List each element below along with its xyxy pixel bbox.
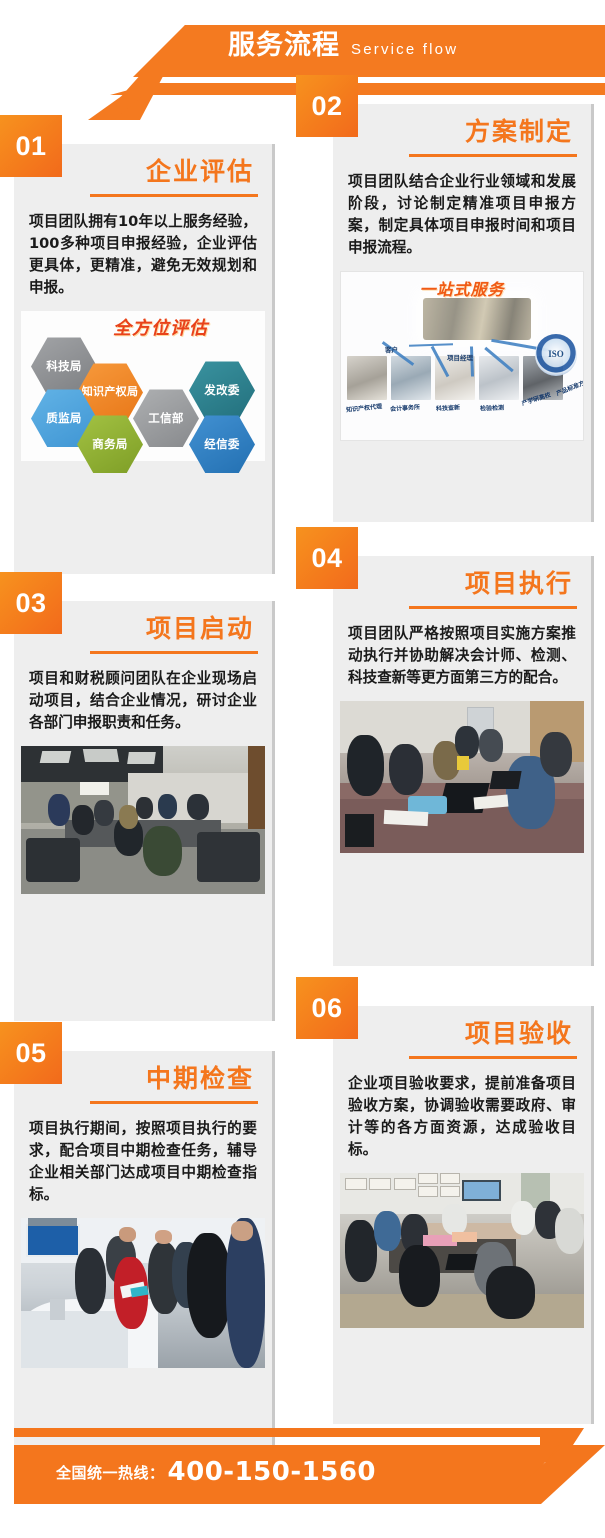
page-title-cn: 服务流程 bbox=[228, 32, 340, 59]
caption-testing: 检验检测 bbox=[480, 403, 504, 413]
card-body-06: 企业项目验收要求，提前准备项目验收方案，协调验收需要政府、审计等的各方面资源，达… bbox=[333, 1059, 591, 1174]
page-title-en: Service flow bbox=[351, 41, 458, 58]
card-body-04: 项目团队严格按照项目实施方案推动执行并协助解决会计师、检测、科技查新等更方面第三… bbox=[333, 609, 591, 702]
process-card-06[interactable]: 06 项目验收 企业项目验收要求，提前准备项目验收方案，协调验收需要政府、审计等… bbox=[333, 1006, 591, 1424]
card-number-badge-05: 05 bbox=[0, 1022, 62, 1084]
card-header-06: 项目验收 bbox=[333, 1006, 591, 1059]
card-number-badge-04: 04 bbox=[296, 527, 358, 589]
card-title-03: 项目启动 bbox=[28, 615, 258, 644]
card-row-3: 05 中期检查 项目执行期间，按照项目执行的要求，配合项目中期检查任务，辅导企业… bbox=[0, 1006, 605, 1466]
card-media-04 bbox=[333, 701, 591, 861]
card-row-2: 03 项目启动 项目和财税顾问团队在企业现场启动项目，结合企业情况，研讨企业各部… bbox=[0, 556, 605, 1006]
thumb-ip bbox=[347, 356, 387, 400]
footer-stripe bbox=[14, 1428, 579, 1437]
card-title-04: 项目执行 bbox=[347, 570, 577, 599]
card-media-06 bbox=[333, 1173, 591, 1336]
photo-project-acceptance bbox=[340, 1173, 584, 1328]
iso-seal-icon bbox=[535, 334, 577, 376]
card-row-1: 01 企业评估 项目团队拥有10年以上服务经验，100多种项目申报经验，企业评估… bbox=[0, 104, 605, 556]
node-project-manager: 项目经理 bbox=[447, 352, 473, 362]
card-title-06: 项目验收 bbox=[347, 1020, 577, 1049]
page-title: 服务流程 Service flow bbox=[228, 32, 458, 59]
hotline-number[interactable]: 400-150-1560 bbox=[168, 1459, 377, 1485]
card-header-02: 方案制定 bbox=[333, 104, 591, 157]
footer-banner: 全国统一热线： 400-150-1560 bbox=[0, 1418, 605, 1528]
card-media-05 bbox=[14, 1218, 272, 1376]
hexagon-jingxin: 经信委 bbox=[189, 415, 255, 473]
card-body-05: 项目执行期间，按照项目执行的要求，配合项目中期检查任务，辅导企业相关部门达成项目… bbox=[14, 1104, 272, 1219]
card-header-04: 项目执行 bbox=[333, 556, 591, 609]
card-body-03: 项目和财税顾问团队在企业现场启动项目，结合企业情况，研讨企业各部门申报职责和任务… bbox=[14, 654, 272, 747]
caption-search: 科技查新 bbox=[436, 403, 460, 413]
photo-project-kickoff bbox=[21, 746, 265, 894]
hotline-label: 全国统一热线： bbox=[56, 1462, 165, 1483]
card-title-01: 企业评估 bbox=[28, 158, 258, 187]
process-card-02[interactable]: 02 方案制定 项目团队结合企业行业领域和发展阶段，讨论制定精准项目申报方案，制… bbox=[333, 104, 591, 522]
card-title-02: 方案制定 bbox=[347, 118, 577, 147]
hexagon-diagram: 全方位评估 科技局 知识产权局 发改委 质监局 工信部 商务局 经信委 bbox=[21, 311, 265, 461]
infographic-page: 服务流程 Service flow 01 企业评估 项目团队拥有10年以上服务经… bbox=[0, 0, 605, 1538]
process-card-05[interactable]: 05 中期检查 项目执行期间，按照项目执行的要求，配合项目中期检查任务，辅导企业… bbox=[14, 1051, 272, 1476]
process-card-grid: 01 企业评估 项目团队拥有10年以上服务经验，100多种项目申报经验，企业评估… bbox=[0, 104, 605, 1466]
card-media-02: 一站式服务 客户 项目经理 bbox=[333, 271, 591, 449]
one-stop-service-diagram: 一站式服务 客户 项目经理 bbox=[340, 271, 584, 441]
one-stop-service-label: 一站式服务 bbox=[341, 276, 583, 300]
hexagon-gongxin: 工信部 bbox=[133, 389, 199, 447]
caption-accounting: 会计事务所 bbox=[390, 402, 421, 413]
card-body-01: 项目团队拥有10年以上服务经验，100多种项目申报经验，企业评估更具体，更精准，… bbox=[14, 197, 272, 312]
card-title-05: 中期检查 bbox=[28, 1065, 258, 1094]
thumb-testing bbox=[479, 356, 519, 400]
hexagon-diagram-label: 全方位评估 bbox=[113, 314, 208, 340]
card-media-01: 全方位评估 科技局 知识产权局 发改委 质监局 工信部 商务局 经信委 bbox=[14, 311, 272, 469]
photo-project-execution bbox=[340, 701, 584, 853]
hexagon-fagai: 发改委 bbox=[189, 361, 255, 419]
photo-midterm-inspection bbox=[21, 1218, 265, 1368]
hotline: 全国统一热线： 400-150-1560 bbox=[56, 1459, 376, 1485]
card-number-badge-01: 01 bbox=[0, 115, 62, 177]
caption-ip: 知识产权代理 bbox=[346, 402, 383, 415]
card-number-badge-03: 03 bbox=[0, 572, 62, 634]
process-card-04[interactable]: 04 项目执行 项目团队严格按照项目实施方案推动执行并协助解决会计师、检测、科技… bbox=[333, 556, 591, 966]
card-body-02: 项目团队结合企业行业领域和发展阶段，讨论制定精准项目申报方案，制定具体项目申报时… bbox=[333, 157, 591, 272]
process-card-01[interactable]: 01 企业评估 项目团队拥有10年以上服务经验，100多种项目申报经验，企业评估… bbox=[14, 144, 272, 574]
card-number-badge-06: 06 bbox=[296, 977, 358, 1039]
process-card-03[interactable]: 03 项目启动 项目和财税顾问团队在企业现场启动项目，结合企业情况，研讨企业各部… bbox=[14, 601, 272, 1021]
meeting-photo-thumb bbox=[423, 298, 531, 340]
card-media-03 bbox=[14, 746, 272, 902]
node-customer: 客户 bbox=[385, 344, 398, 354]
card-number-badge-02: 02 bbox=[296, 75, 358, 137]
